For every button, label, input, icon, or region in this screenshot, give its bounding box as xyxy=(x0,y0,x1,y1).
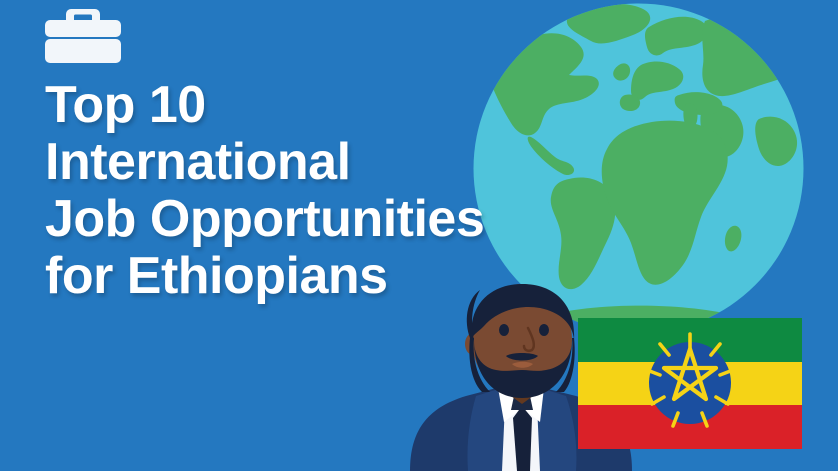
title-line-3: Job Opportunities xyxy=(45,191,575,248)
title-line-4: for Ethiopians xyxy=(45,248,575,305)
briefcase-icon xyxy=(41,6,125,66)
thumbnail-canvas: Top 10 International Job Opportunities f… xyxy=(0,0,838,471)
title-line-2: International xyxy=(45,134,575,191)
ethiopian-flag xyxy=(578,318,802,449)
page-title: Top 10 International Job Opportunities f… xyxy=(45,77,575,305)
title-line-1: Top 10 xyxy=(45,77,575,134)
